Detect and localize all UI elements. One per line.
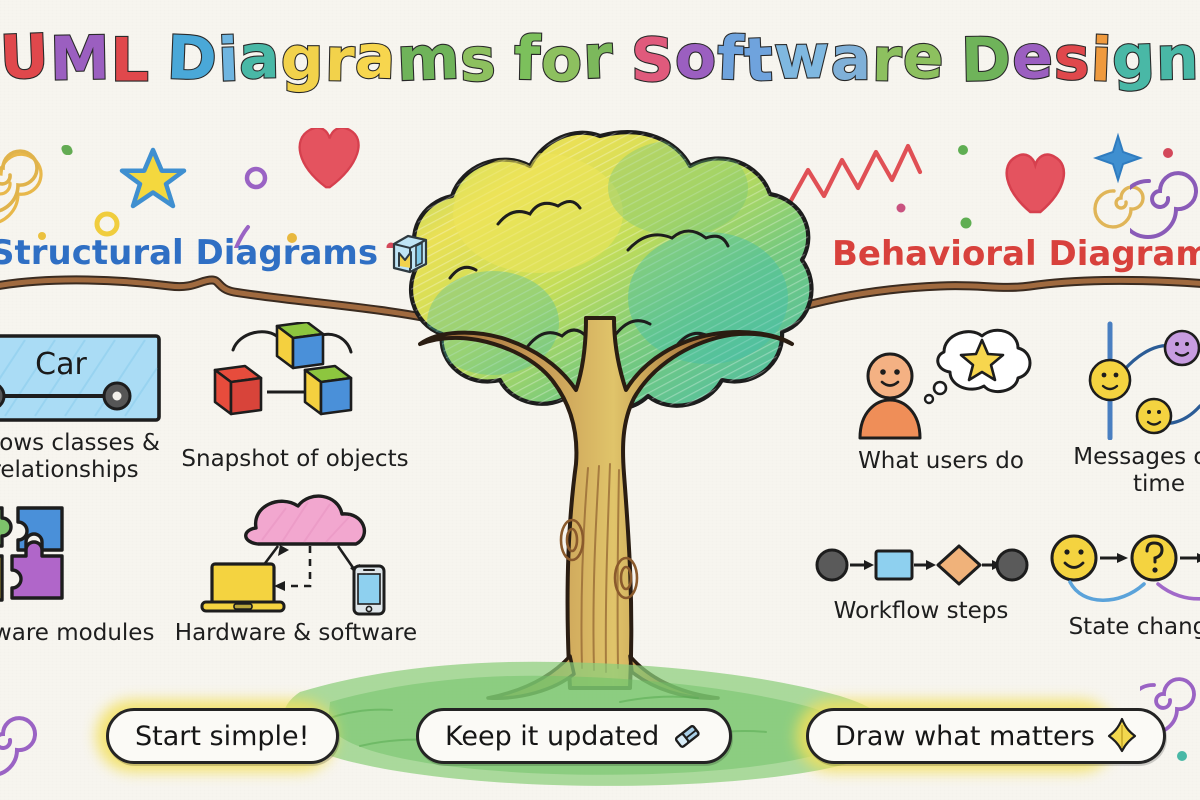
yellow-ring-icon bbox=[97, 214, 117, 234]
class-box-car-art: Car bbox=[0, 330, 165, 426]
title-letter: g bbox=[281, 24, 325, 94]
use-case-caption: What users do bbox=[828, 448, 1054, 475]
state-transitions-art bbox=[1046, 532, 1200, 610]
title-letter: U bbox=[0, 22, 51, 94]
workflow-steps-art bbox=[814, 536, 1029, 594]
title-letter: s bbox=[1053, 24, 1091, 95]
purple-spiral-icon bbox=[1130, 173, 1196, 237]
red-dot-icon bbox=[1163, 148, 1173, 158]
poster-canvas: UMLDiagramsforSoftwareDesign bbox=[0, 0, 1200, 800]
item-activity-diagram: Workflow steps bbox=[808, 536, 1034, 625]
tip-pill-draw-what-matters[interactable]: Draw what matters bbox=[806, 708, 1166, 764]
title-letter: w bbox=[773, 22, 831, 93]
doodle-corner-topright bbox=[1130, 150, 1200, 245]
title-letter: r bbox=[324, 25, 356, 96]
title-letter: f bbox=[513, 24, 541, 95]
title-letter: n bbox=[1156, 24, 1200, 95]
title-letter: a bbox=[354, 22, 398, 94]
title-letter: M bbox=[49, 23, 111, 94]
doodle-layer-left bbox=[0, 128, 430, 248]
title-letter: o bbox=[674, 22, 718, 93]
cube-left bbox=[215, 366, 261, 414]
title-letter: i bbox=[216, 25, 240, 96]
title-letter: o bbox=[540, 25, 585, 97]
class-box-label: Car bbox=[35, 347, 87, 382]
title-letter: g bbox=[1111, 22, 1158, 94]
blue-sparkle-icon bbox=[1096, 136, 1140, 180]
deployment-diagram-caption: Hardware & software bbox=[168, 620, 424, 647]
title-letter: r bbox=[582, 22, 615, 93]
puzzle-pieces-art bbox=[0, 498, 146, 616]
title-letter: e bbox=[901, 22, 945, 94]
doodle-corner-left-mid bbox=[0, 130, 46, 220]
item-sequence-diagram: Messages over time bbox=[1046, 320, 1200, 498]
class-diagram-caption: Shows classes & relationships bbox=[0, 430, 188, 484]
structural-section-header: Structural Diagrams bbox=[0, 232, 430, 274]
three-cubes-art bbox=[195, 322, 395, 442]
title-letter: e bbox=[1012, 23, 1054, 93]
page-title: UMLDiagramsforSoftwareDesign bbox=[0, 24, 1200, 94]
sparkle-icon bbox=[1107, 717, 1137, 755]
structural-heading-text: Structural Diagrams bbox=[0, 233, 378, 273]
green-dot-icon bbox=[61, 144, 74, 157]
item-object-diagram: Snapshot of objects bbox=[172, 322, 418, 473]
item-component-diagram: Software modules bbox=[0, 498, 174, 647]
green-dot-icon bbox=[961, 218, 972, 229]
laptop-icon bbox=[202, 564, 284, 611]
title-letter: a bbox=[831, 24, 873, 94]
purple-ring-icon bbox=[247, 169, 265, 187]
title-letter: a bbox=[238, 22, 281, 93]
gold-spiral-icon bbox=[1095, 187, 1143, 227]
behavioral-heading-text: Behavioral Diagrams bbox=[832, 234, 1200, 274]
pink-dot-icon bbox=[897, 204, 906, 213]
tree-illustration bbox=[378, 108, 822, 708]
title-letter: D bbox=[165, 23, 218, 95]
title-letter: t bbox=[743, 25, 775, 96]
behavioral-section-header: Behavioral Diagrams bbox=[832, 232, 1200, 276]
eraser-icon bbox=[671, 720, 703, 752]
item-deployment-diagram: Hardware & software bbox=[168, 488, 424, 647]
tip-label-start-simple: Start simple! bbox=[135, 721, 310, 752]
cube-top bbox=[277, 322, 323, 368]
tip-label-draw-what-matters: Draw what matters bbox=[835, 721, 1095, 752]
title-letter: D bbox=[961, 25, 1013, 96]
gold-spiral-icon bbox=[0, 154, 41, 224]
tip-label-keep-updated: Keep it updated bbox=[445, 721, 659, 752]
item-class-diagram: Car Shows classes & relationships bbox=[0, 330, 188, 484]
cube-right bbox=[305, 366, 351, 414]
green-dot-icon bbox=[958, 145, 968, 155]
actor-thought-bubble-art bbox=[846, 326, 1036, 444]
title-letter: f bbox=[716, 24, 746, 95]
title-letter: S bbox=[631, 25, 675, 95]
title-letter: m bbox=[395, 23, 461, 95]
lifelines-smileys-art bbox=[1064, 320, 1200, 440]
cloud-laptop-phone-art bbox=[186, 488, 406, 616]
item-state-machine-diagram: State changes bbox=[1038, 532, 1200, 641]
red-heart-icon bbox=[300, 128, 359, 187]
tip-pill-keep-updated[interactable]: Keep it updated bbox=[416, 708, 732, 764]
tip-pill-start-simple[interactable]: Start simple! bbox=[106, 708, 339, 764]
component-diagram-caption: Software modules bbox=[0, 620, 174, 647]
item-use-case-diagram: What users do bbox=[828, 326, 1054, 475]
activity-caption: Workflow steps bbox=[808, 598, 1034, 625]
title-letter: L bbox=[111, 25, 150, 95]
package-cube-icon bbox=[390, 232, 430, 274]
object-diagram-caption: Snapshot of objects bbox=[172, 446, 418, 473]
red-heart-icon bbox=[1007, 155, 1064, 212]
sequence-caption: Messages over time bbox=[1046, 444, 1200, 498]
green-dot-icon bbox=[60, 143, 75, 157]
title-letter: r bbox=[871, 25, 903, 96]
gold-spiral-icon bbox=[0, 151, 37, 212]
title-letter: i bbox=[1089, 25, 1113, 96]
phone-icon bbox=[354, 566, 384, 614]
yellow-star-icon bbox=[122, 150, 184, 206]
state-caption: State changes bbox=[1038, 614, 1200, 641]
title-letter: s bbox=[460, 25, 498, 96]
